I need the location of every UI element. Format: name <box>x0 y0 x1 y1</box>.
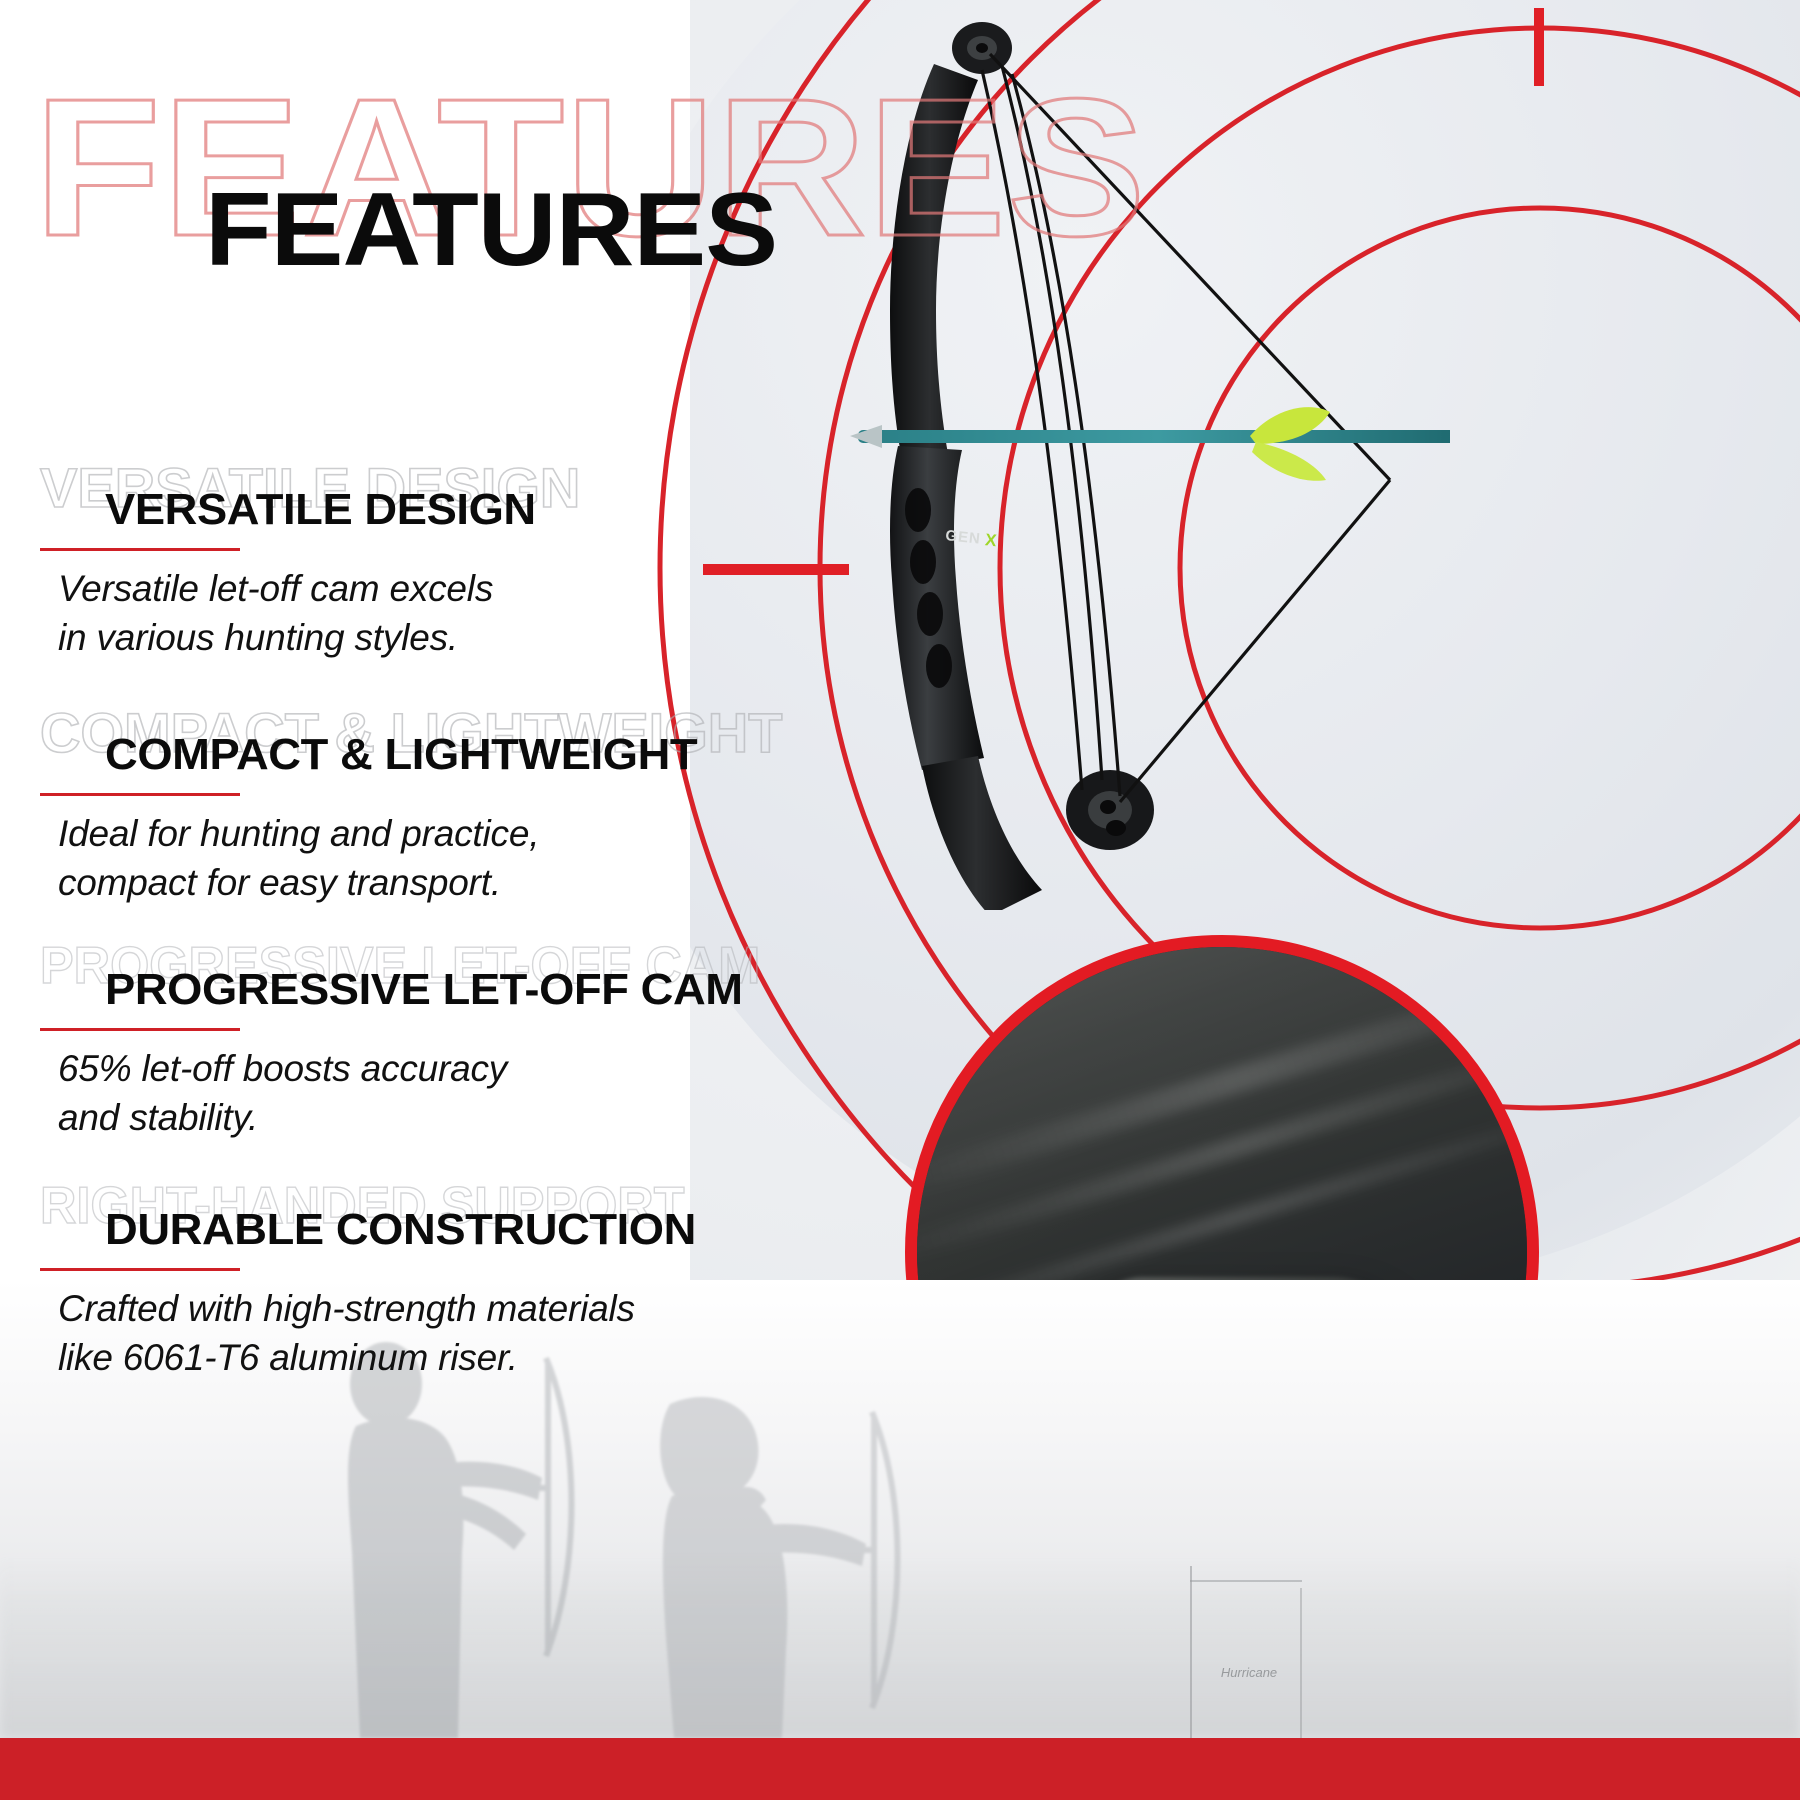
feature-underline <box>40 1268 240 1271</box>
background-archer-silhouette-2 <box>600 1378 920 1738</box>
feature-body-line-1: Crafted with high-strength materials <box>58 1284 698 1333</box>
feature-heading: PROGRESSIVE LET-OFF CAM <box>105 968 743 1012</box>
feature-underline <box>40 793 240 796</box>
feature-heading: VERSATILE DESIGN <box>105 488 536 532</box>
feature-body-line-1: 65% let-off boosts accuracy <box>58 1044 698 1093</box>
feature-body: Ideal for hunting and practice, compact … <box>58 809 698 907</box>
background-archer-silhouette-1 <box>290 1338 590 1738</box>
feature-heading: DURABLE CONSTRUCTION <box>105 1208 696 1252</box>
feature-heading: COMPACT & LIGHTWEIGHT <box>105 733 697 777</box>
background-banner-crossbar <box>1190 1580 1302 1582</box>
feature-body: Versatile let-off cam excels in various … <box>58 564 698 662</box>
feature-body-line-2: compact for easy transport. <box>58 858 698 907</box>
feature-body: 65% let-off boosts accuracy and stabilit… <box>58 1044 698 1142</box>
crosshair-tick-top <box>1534 8 1544 86</box>
crosshair-tick-left <box>703 564 849 575</box>
bottom-accent-bar <box>0 1738 1800 1800</box>
feature-body-line-2: and stability. <box>58 1093 698 1142</box>
infographic-canvas: GEN X GEN X <box>0 0 1800 1800</box>
feature-underline <box>40 1028 240 1031</box>
feature-body-line-1: Ideal for hunting and practice, <box>58 809 698 858</box>
feature-body-line-1: Versatile let-off cam excels <box>58 564 698 613</box>
feature-body-line-2: in various hunting styles. <box>58 613 698 662</box>
background-banner-post-right <box>1300 1588 1302 1738</box>
background-banner-label: Hurricane <box>1214 1665 1284 1680</box>
page-title: FEATURES <box>205 178 777 282</box>
feature-body-line-2: like 6061-T6 aluminum riser. <box>58 1333 698 1382</box>
feature-body: Crafted with high-strength materials lik… <box>58 1284 698 1382</box>
feature-underline <box>40 548 240 551</box>
background-banner-post-left <box>1190 1566 1192 1738</box>
